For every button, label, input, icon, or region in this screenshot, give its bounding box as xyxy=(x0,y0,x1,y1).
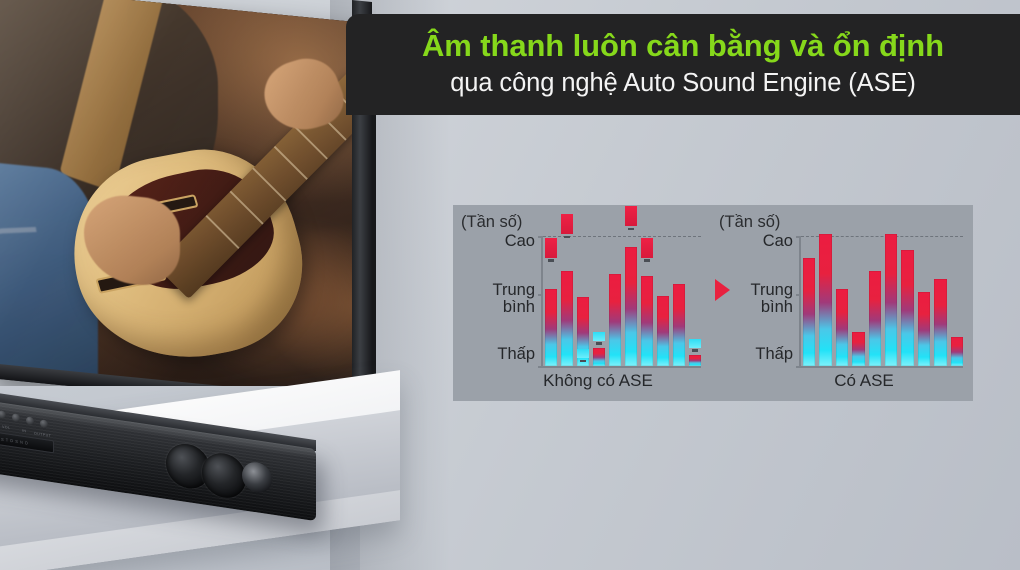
soundbar-assembly: VOL IN OUTPUT S T D S N D xyxy=(0,398,340,528)
bar-6 xyxy=(625,236,637,366)
plot-area-right xyxy=(799,236,963,368)
y-tick-trung-left xyxy=(538,294,543,296)
bar-4 xyxy=(852,236,864,366)
chart-title-without-ase: Không có ASE xyxy=(469,371,727,391)
bar-body xyxy=(561,271,573,366)
bar-body xyxy=(609,274,621,366)
bar-body xyxy=(918,292,930,366)
bar-3 xyxy=(836,236,848,366)
bar-group-right xyxy=(803,236,963,366)
bar-8 xyxy=(918,236,930,366)
bar-peak-cap xyxy=(593,332,605,341)
bar-peak-tick xyxy=(548,259,555,262)
bar-peak-tick xyxy=(644,259,651,262)
y-label-cao-right: Cao xyxy=(763,233,793,250)
bar-body xyxy=(901,250,913,366)
bar-body xyxy=(625,247,637,366)
y-label-cao-left: Cao xyxy=(505,233,535,250)
bar-body xyxy=(885,234,897,366)
television xyxy=(0,0,376,386)
bar-body xyxy=(593,348,605,366)
bar-6 xyxy=(885,236,897,366)
chart-without-ase: (Tần số) Cao Trungbình Thấp Không có ASE xyxy=(453,205,711,401)
bar-body xyxy=(545,289,557,366)
bar-5 xyxy=(869,236,881,366)
bar-5 xyxy=(609,236,621,366)
plot-area-left xyxy=(541,236,701,368)
y-axis-labels-left: Cao Trungbình Thấp xyxy=(453,236,539,368)
y-axis-labels-right: Cao Trungbình Thấp xyxy=(711,236,797,368)
bar-1 xyxy=(545,236,557,366)
bar-body xyxy=(689,355,701,366)
y-tick-thap-right xyxy=(796,366,801,368)
bar-body xyxy=(852,332,864,366)
bar-body xyxy=(951,337,963,366)
ase-comparison-panel: (Tần số) Cao Trungbình Thấp Không có ASE… xyxy=(453,205,973,401)
bar-8 xyxy=(657,236,669,366)
chart-title-with-ase: Có ASE xyxy=(733,371,995,391)
banner-headline: Âm thanh luôn cân bằng và ổn định xyxy=(422,29,944,64)
y-tick-thap-left xyxy=(538,366,543,368)
axis-title-frequency-left: (Tần số) xyxy=(461,213,522,232)
bar-9 xyxy=(673,236,685,366)
bar-peak-cap xyxy=(545,238,557,258)
y-label-trungbinh-left: Trungbình xyxy=(493,282,536,316)
title-banner: Âm thanh luôn cân bằng và ổn định qua cô… xyxy=(346,14,1020,115)
bar-body xyxy=(836,289,848,366)
bar-peak-tick xyxy=(628,228,635,231)
bar-4 xyxy=(593,236,605,366)
soundbar-display-text: S T D S N D xyxy=(1,437,28,446)
bar-10 xyxy=(689,236,701,366)
bar-peak-tick xyxy=(580,360,587,363)
bar-peak-tick xyxy=(596,342,603,345)
bar-body xyxy=(641,276,653,366)
bar-body xyxy=(673,284,685,366)
bar-3 xyxy=(577,236,589,366)
banner-subheadline: qua công nghệ Auto Sound Engine (ASE) xyxy=(450,68,916,98)
bar-peak-cap xyxy=(689,339,701,348)
soundbar-label-in: IN xyxy=(22,429,26,434)
axis-title-frequency-right: (Tần số) xyxy=(719,213,780,232)
bar-10 xyxy=(951,236,963,366)
bar-group-left xyxy=(545,236,701,366)
tv-screen xyxy=(0,0,368,386)
bar-7 xyxy=(901,236,913,366)
bar-9 xyxy=(934,236,946,366)
bar-body xyxy=(803,258,815,366)
bar-peak-cap xyxy=(625,206,637,226)
y-label-thap-right: Thấp xyxy=(755,346,793,363)
screenshot-stage: VOL IN OUTPUT S T D S N D Âm thanh luôn … xyxy=(0,0,1020,570)
bar-body xyxy=(934,279,946,366)
y-label-thap-left: Thấp xyxy=(497,346,535,363)
bar-2 xyxy=(561,236,573,366)
tv-body xyxy=(0,0,376,386)
bar-peak-cap xyxy=(561,214,573,234)
bar-peak-cap xyxy=(641,238,653,258)
bar-2 xyxy=(819,236,831,366)
bar-body xyxy=(657,296,669,366)
bar-body xyxy=(869,271,881,366)
y-tick-trung-right xyxy=(796,294,801,296)
bar-1 xyxy=(803,236,815,366)
chart-with-ase: (Tần số) Cao Trungbình Thấp Có ASE xyxy=(711,205,973,401)
bar-peak-tick xyxy=(564,236,571,239)
bar-body xyxy=(819,234,831,366)
y-label-trungbinh-right: Trungbình xyxy=(751,282,794,316)
bar-7 xyxy=(641,236,653,366)
bar-peak-cap xyxy=(577,349,589,358)
bar-peak-tick xyxy=(692,349,699,352)
